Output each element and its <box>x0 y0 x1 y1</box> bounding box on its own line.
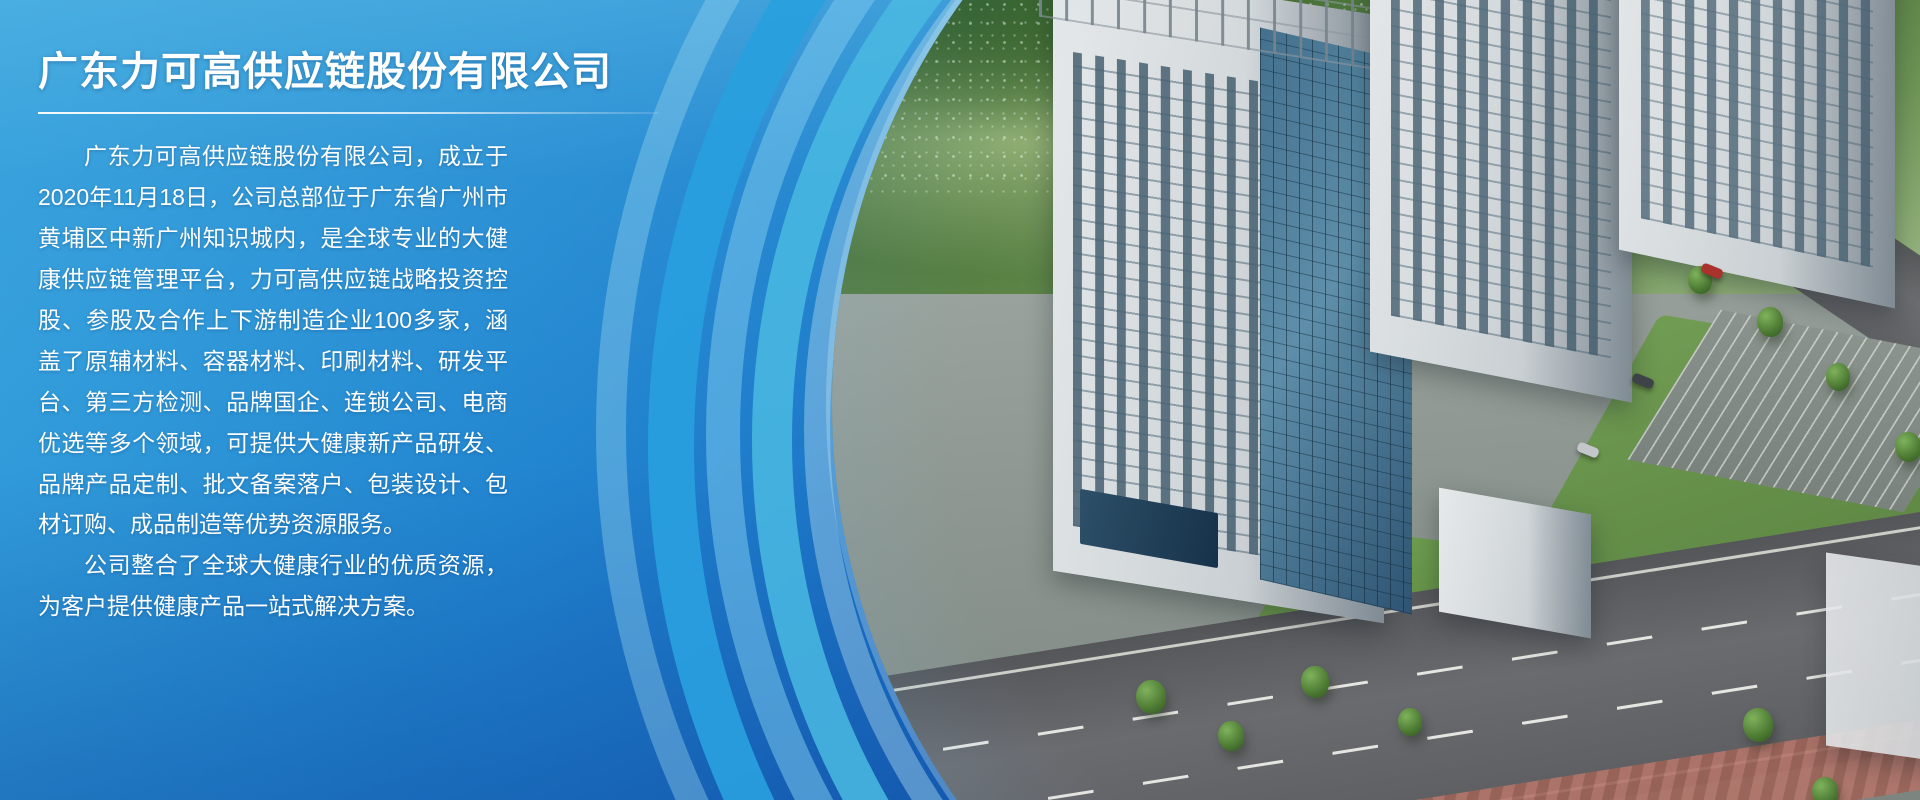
description-paragraph-1: 广东力可高供应链股份有限公司，成立于2020年11月18日，公司总部位于广东省广… <box>38 136 508 545</box>
company-profile-banner: 广东力可高供应链股份有限公司 广东力可高供应链股份有限公司，成立于2020年11… <box>0 0 1920 800</box>
page-title: 广东力可高供应链股份有限公司 <box>38 46 640 98</box>
text-content-panel: 广东力可高供应链股份有限公司 广东力可高供应链股份有限公司，成立于2020年11… <box>0 0 640 627</box>
title-underline <box>38 112 658 114</box>
company-description: 广东力可高供应链股份有限公司，成立于2020年11月18日，公司总部位于广东省广… <box>38 136 508 627</box>
photo-edge-blend <box>832 0 1920 800</box>
campus-photo <box>832 0 1920 800</box>
description-paragraph-2: 公司整合了全球大健康行业的优质资源，为客户提供健康产品一站式解决方案。 <box>38 545 508 627</box>
campus-photo-disc <box>832 0 1920 800</box>
